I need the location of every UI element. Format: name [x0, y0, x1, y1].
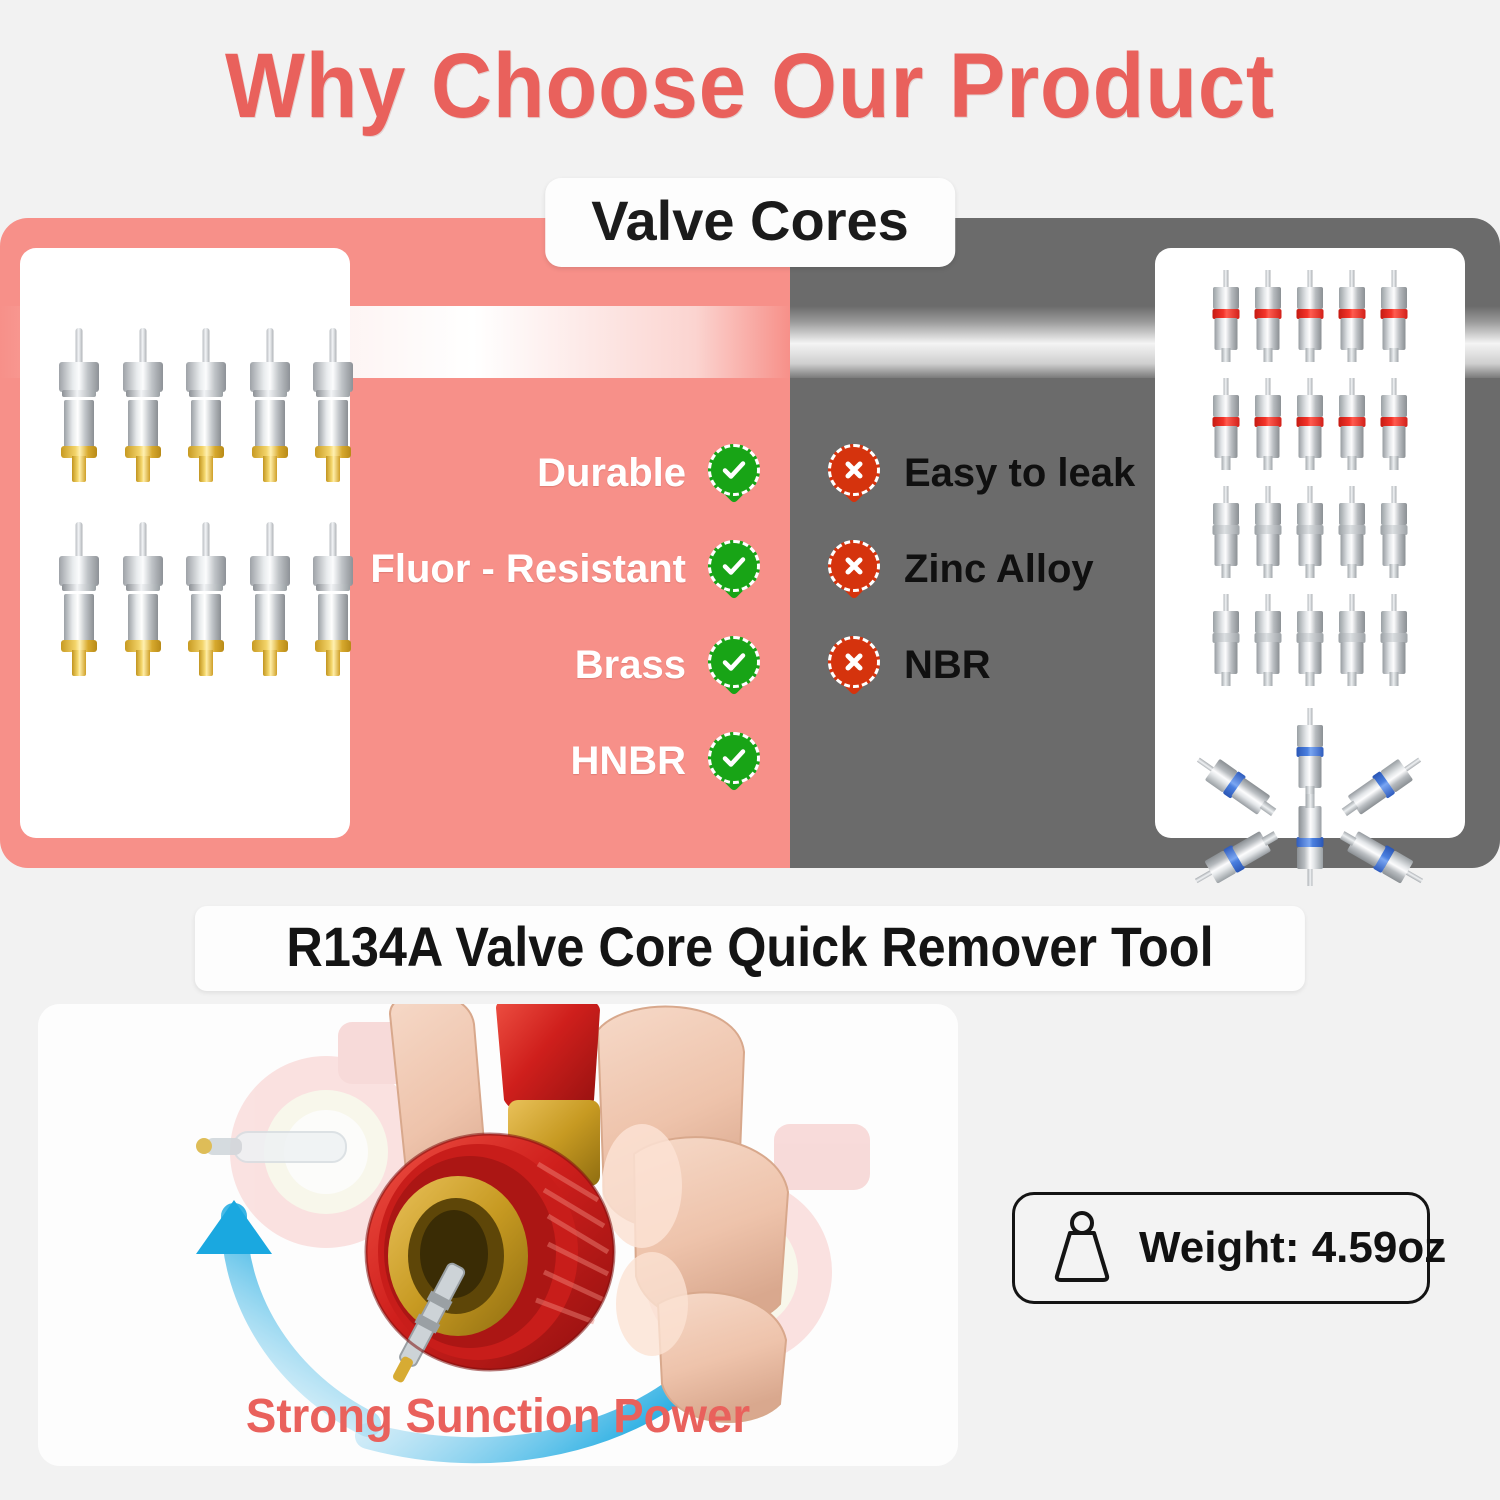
valve-core-item	[1295, 794, 1325, 886]
valve-core-item	[1253, 378, 1283, 470]
feature-row: Zinc Alloy	[828, 536, 1158, 602]
infographic-page: Why Choose Our Product Ours Others	[0, 0, 1500, 1500]
valve-core-item	[1295, 486, 1325, 578]
valve-core-item	[183, 328, 229, 480]
others-feature-list: Easy to leak Zinc Alloy NBR	[828, 440, 1158, 728]
feature-label: Brass	[575, 643, 686, 688]
other-valve-cores-image	[1155, 248, 1465, 838]
weight-icon	[1051, 1210, 1113, 1287]
valve-core-item	[1211, 486, 1241, 578]
others-product-card	[1155, 248, 1465, 838]
valve-core-row	[1155, 486, 1465, 578]
feature-row: Fluor - Resistant	[360, 536, 760, 602]
valve-core-row	[56, 522, 356, 674]
valve-core-item	[247, 522, 293, 674]
valve-core-row	[1155, 378, 1465, 470]
x-icon	[828, 636, 880, 694]
valve-core-item	[1379, 378, 1409, 470]
valve-core-item	[56, 522, 102, 674]
valve-core-item	[1379, 594, 1409, 686]
feature-label: NBR	[904, 643, 991, 688]
check-icon	[708, 732, 760, 790]
valve-core-row	[56, 328, 356, 480]
check-icon	[708, 444, 760, 502]
check-icon	[708, 636, 760, 694]
feature-row: HNBR	[360, 728, 760, 794]
page-title: Why Choose Our Product	[60, 34, 1440, 139]
valve-core-item	[183, 522, 229, 674]
valve-core-item	[1295, 708, 1325, 800]
valve-core-item	[1335, 822, 1430, 894]
feature-row: Durable	[360, 440, 760, 506]
valve-core-row	[1155, 594, 1465, 686]
weight-badge: Weight: 4.59oz	[1012, 1192, 1430, 1304]
tool-section-title-text: R134A Valve Core Quick Remover Tool	[286, 914, 1213, 979]
valve-core-item	[1337, 378, 1367, 470]
feature-row: Easy to leak	[828, 440, 1158, 506]
valve-core-item	[310, 522, 356, 674]
valve-core-item	[1379, 486, 1409, 578]
section-badge: Valve Cores	[545, 178, 955, 267]
x-icon	[828, 540, 880, 598]
valve-core-item	[310, 328, 356, 480]
weight-label: Weight: 4.59oz	[1139, 1223, 1446, 1273]
valve-core-item	[247, 328, 293, 480]
feature-label: Fluor - Resistant	[370, 547, 686, 592]
valve-core-item	[1190, 747, 1283, 824]
valve-core-item	[1253, 270, 1283, 362]
valve-core-item	[1211, 378, 1241, 470]
feature-row: NBR	[828, 632, 1158, 698]
valve-core-item	[1189, 822, 1284, 894]
feature-label: Easy to leak	[904, 451, 1135, 496]
ours-product-card	[20, 248, 350, 838]
check-icon	[708, 540, 760, 598]
our-valve-cores-image	[56, 328, 356, 716]
valve-core-item	[1253, 486, 1283, 578]
valve-core-item	[1253, 594, 1283, 686]
valve-core-item	[1336, 747, 1429, 824]
valve-core-item	[120, 328, 166, 480]
valve-core-item	[1295, 378, 1325, 470]
valve-core-row	[1155, 270, 1465, 362]
valve-core-item	[1211, 270, 1241, 362]
tool-photo: Strong Sunction Power	[38, 1004, 958, 1466]
valve-core-item	[1295, 594, 1325, 686]
ours-feature-list: Durable Fluor - Resistant Br	[360, 440, 760, 824]
valve-core-item	[1379, 270, 1409, 362]
feature-label: HNBR	[570, 739, 686, 784]
x-icon	[828, 444, 880, 502]
valve-core-item	[120, 522, 166, 674]
feature-label: Durable	[537, 451, 686, 496]
tool-section-title: R134A Valve Core Quick Remover Tool	[195, 906, 1305, 991]
feature-label: Zinc Alloy	[904, 547, 1094, 592]
valve-core-item	[1295, 270, 1325, 362]
valve-core-item	[1337, 270, 1367, 362]
valve-core-item	[1211, 594, 1241, 686]
valve-core-item	[1337, 486, 1367, 578]
feature-row: Brass	[360, 632, 760, 698]
comparison-section: Ours Others	[0, 218, 1500, 868]
valve-core-scatter-group	[1155, 702, 1465, 892]
valve-core-item	[56, 328, 102, 480]
valve-core-item	[1337, 594, 1367, 686]
photo-caption: Strong Sunction Power	[61, 1389, 935, 1444]
